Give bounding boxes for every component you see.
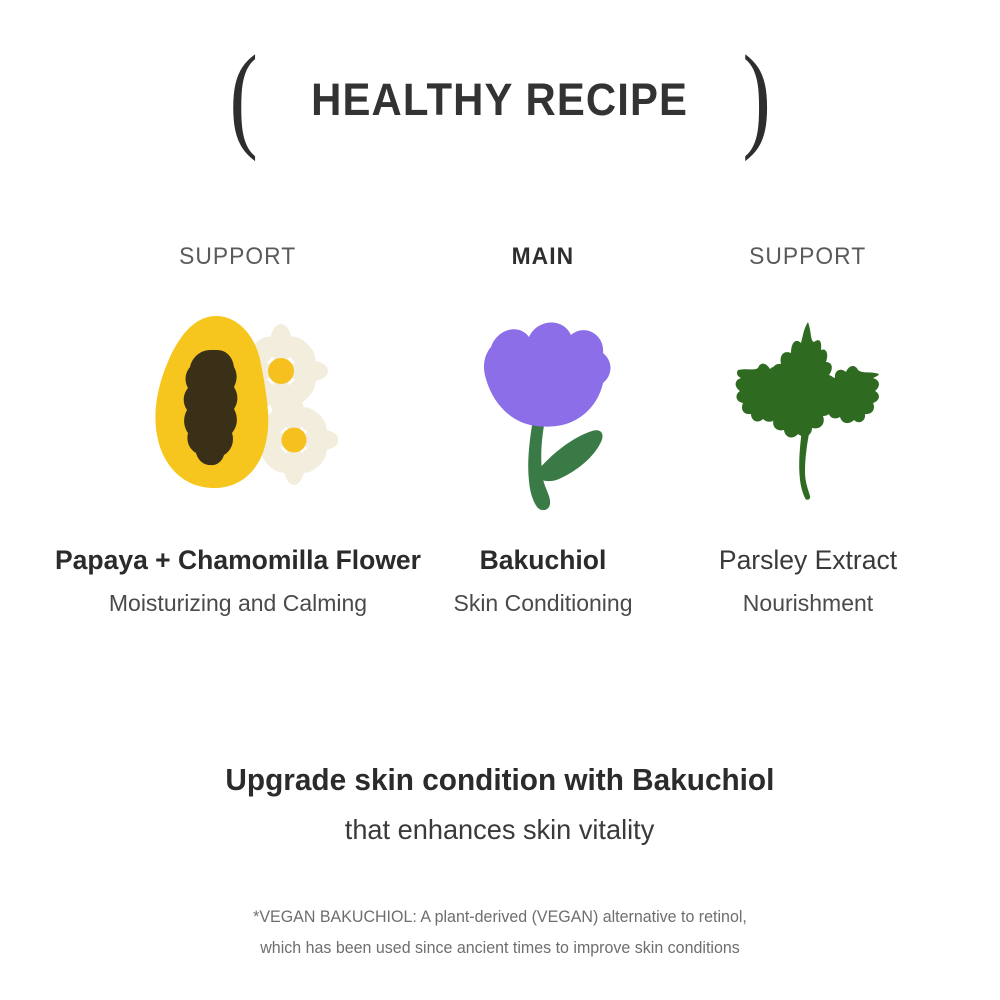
tagline-primary: Upgrade skin condition with Bakuchiol bbox=[226, 762, 775, 798]
ingredient-role-label: SUPPORT bbox=[749, 243, 866, 273]
ingredient-benefit: Skin Conditioning bbox=[453, 590, 632, 617]
tagline-secondary: that enhances skin vitality bbox=[345, 814, 654, 846]
ingredient-card-papaya: SUPPORT bbox=[48, 243, 428, 617]
ingredient-card-bakuchiol: MAIN Bakuchiol Skin Conditioning bbox=[428, 243, 658, 617]
page-header: ( HEALTHY RECIPE ) bbox=[0, 42, 1000, 157]
ingredient-name: Papaya + Chamomilla Flower bbox=[55, 545, 421, 576]
parsley-leaf-icon bbox=[716, 273, 901, 543]
ingredient-role-label: MAIN bbox=[512, 243, 574, 273]
ingredient-name: Bakuchiol bbox=[480, 545, 607, 576]
papaya-chamomile-icon bbox=[138, 273, 338, 543]
footnote-line-2: which has been used since ancient times … bbox=[15, 933, 985, 964]
footnote-block: *VEGAN BAKUCHIOL: A plant-derived (VEGAN… bbox=[0, 902, 1000, 964]
ingredient-columns: SUPPORT bbox=[0, 243, 1000, 617]
page-title: HEALTHY RECIPE bbox=[312, 74, 689, 126]
tagline-block: Upgrade skin condition with Bakuchiol th… bbox=[0, 762, 1000, 846]
ingredient-benefit: Nourishment bbox=[743, 590, 873, 617]
ingredient-role-label: SUPPORT bbox=[179, 243, 296, 273]
ingredient-benefit: Moisturizing and Calming bbox=[109, 590, 367, 617]
open-paren-icon: ( bbox=[230, 38, 258, 156]
ingredient-name: Parsley Extract bbox=[719, 545, 897, 576]
footnote-line-1: *VEGAN BAKUCHIOL: A plant-derived (VEGAN… bbox=[15, 902, 985, 933]
purple-flower-icon bbox=[453, 273, 633, 543]
ingredient-card-parsley: SUPPORT Parsley Extract Nourishment bbox=[658, 243, 958, 617]
close-paren-icon: ) bbox=[742, 38, 770, 156]
